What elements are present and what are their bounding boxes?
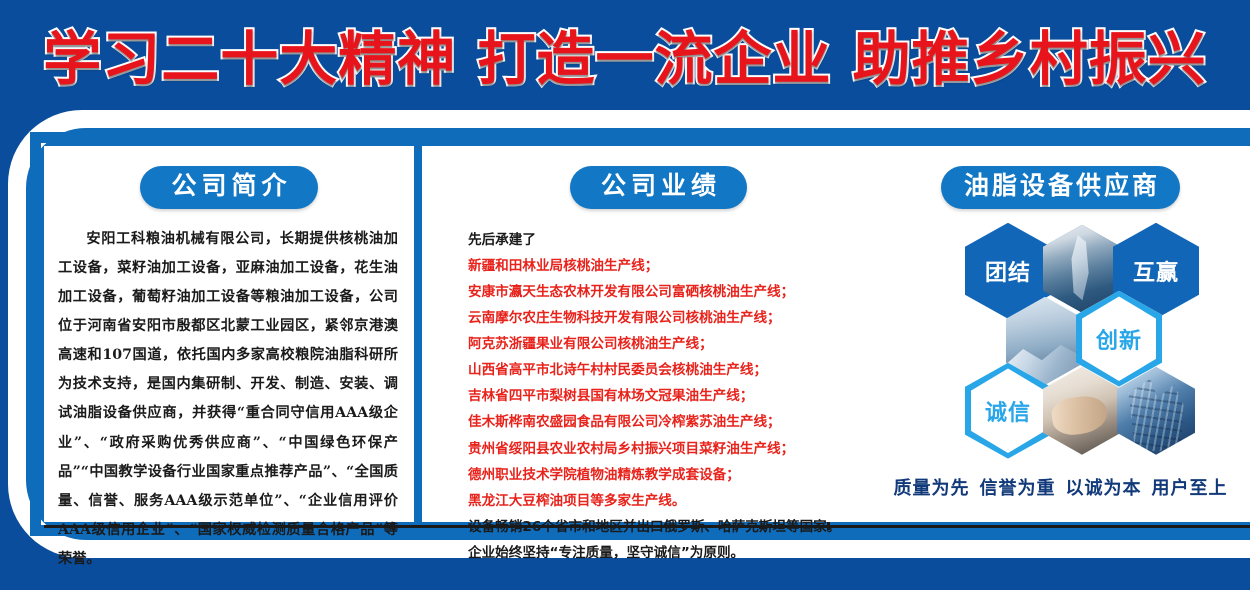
panel-company-intro: 公司简介 安阳工科粮油机械有限公司，长期提供核桃油加工设备，菜籽油加工设备，亚麻… <box>44 146 414 522</box>
achievement-tail: 设备畅销26个省市和地区并出口俄罗斯、哈萨克斯坦等国家。企业始终坚持“专注质量，… <box>468 514 871 566</box>
achievement-list: 先后承建了 新疆和田林业局核桃油生产线；安康市瀛天生态农林开发有限公司富硒核桃油… <box>468 227 871 566</box>
frame-rail-top <box>30 132 1250 143</box>
hex-label-chuangxin: 创新 <box>1096 323 1142 355</box>
slogan-word: 用户至上 <box>1152 478 1228 499</box>
hex-label-tuanjie: 团结 <box>985 255 1031 287</box>
achievement-item: 吉林省四平市梨树县国有林场文冠果油生产线； <box>468 383 871 409</box>
achievement-tail-line: 企业始终坚持“专注质量，坚守诚信”为原则。 <box>468 540 871 566</box>
achievement-item: 阿克苏浙疆果业有限公司核桃油生产线； <box>468 331 871 357</box>
poster-canvas: 学习二十大精神 打造一流企业 助推乡村振兴 公司简介 安阳工科粮油机械有限公司，… <box>0 0 1250 590</box>
frame-rail-left <box>30 132 41 536</box>
hexagon-cluster-inner: 团结 互赢 创新 诚信 <box>953 219 1213 459</box>
achievement-item: 佳木斯桦南农盛园食品有限公司冷榨紫苏油生产线； <box>468 409 871 435</box>
handshake-photo-inner <box>1043 367 1121 455</box>
heading-supplier: 油脂设备供应商 <box>941 166 1180 209</box>
panel-supplier: 油脂设备供应商 团结 互赢 创新 诚信 <box>871 146 1250 522</box>
achievement-item: 德州职业技术学院植物油精炼教学成套设备； <box>468 462 871 488</box>
page-title: 学习二十大精神 打造一流企业 助推乡村振兴 <box>43 12 1206 96</box>
achievement-tail-line: 设备畅销26个省市和地区并出口俄罗斯、哈萨克斯坦等国家。 <box>468 514 871 540</box>
achievement-item: 新疆和田林业局核桃油生产线； <box>468 253 871 279</box>
panel-company-achievements: 公司业绩 先后承建了 新疆和田林业局核桃油生产线；安康市瀛天生态农林开发有限公司… <box>446 146 871 522</box>
heading-company-achievements: 公司业绩 <box>570 166 747 209</box>
achievement-item: 云南摩尔农庄生物科技开发有限公司核桃油生产线； <box>468 305 871 331</box>
heading-company-intro: 公司简介 <box>140 166 317 209</box>
hex-label-chengxin: 诚信 <box>985 395 1031 427</box>
slogan-word: 以诚为本 <box>1066 478 1142 499</box>
hexagon-cluster: 团结 互赢 创新 诚信 <box>871 219 1250 451</box>
achievement-item: 山西省高平市北诗午村村民委员会核桃油生产线； <box>468 357 871 383</box>
achievement-lead: 先后承建了 <box>468 227 871 253</box>
supplier-slogan: 质量为先信誉为重以诚为本用户至上 <box>871 474 1250 500</box>
achievement-items: 新疆和田林业局核桃油生产线；安康市瀛天生态农林开发有限公司富硒核桃油生产线；云南… <box>468 253 871 514</box>
company-intro-body: 安阳工科粮油机械有限公司，长期提供核桃油加工设备，菜籽油加工设备，亚麻油加工设备… <box>58 225 398 574</box>
header-banner: 学习二十大精神 打造一流企业 助推乡村振兴 <box>0 0 1250 108</box>
slogan-word: 质量为先 <box>894 478 970 499</box>
skyscraper-photo-inner <box>1117 367 1195 455</box>
achievement-item: 黑龙江大豆榨油项目等多家生产线。 <box>468 488 871 514</box>
hex-label-huying: 互赢 <box>1133 255 1179 287</box>
achievement-item: 安康市瀛天生态农林开发有限公司富硒核桃油生产线； <box>468 279 871 305</box>
slogan-word: 信誉为重 <box>980 478 1056 499</box>
achievement-item: 贵州省绥阳县农业农村局乡村振兴项目菜籽油生产线； <box>468 436 871 462</box>
